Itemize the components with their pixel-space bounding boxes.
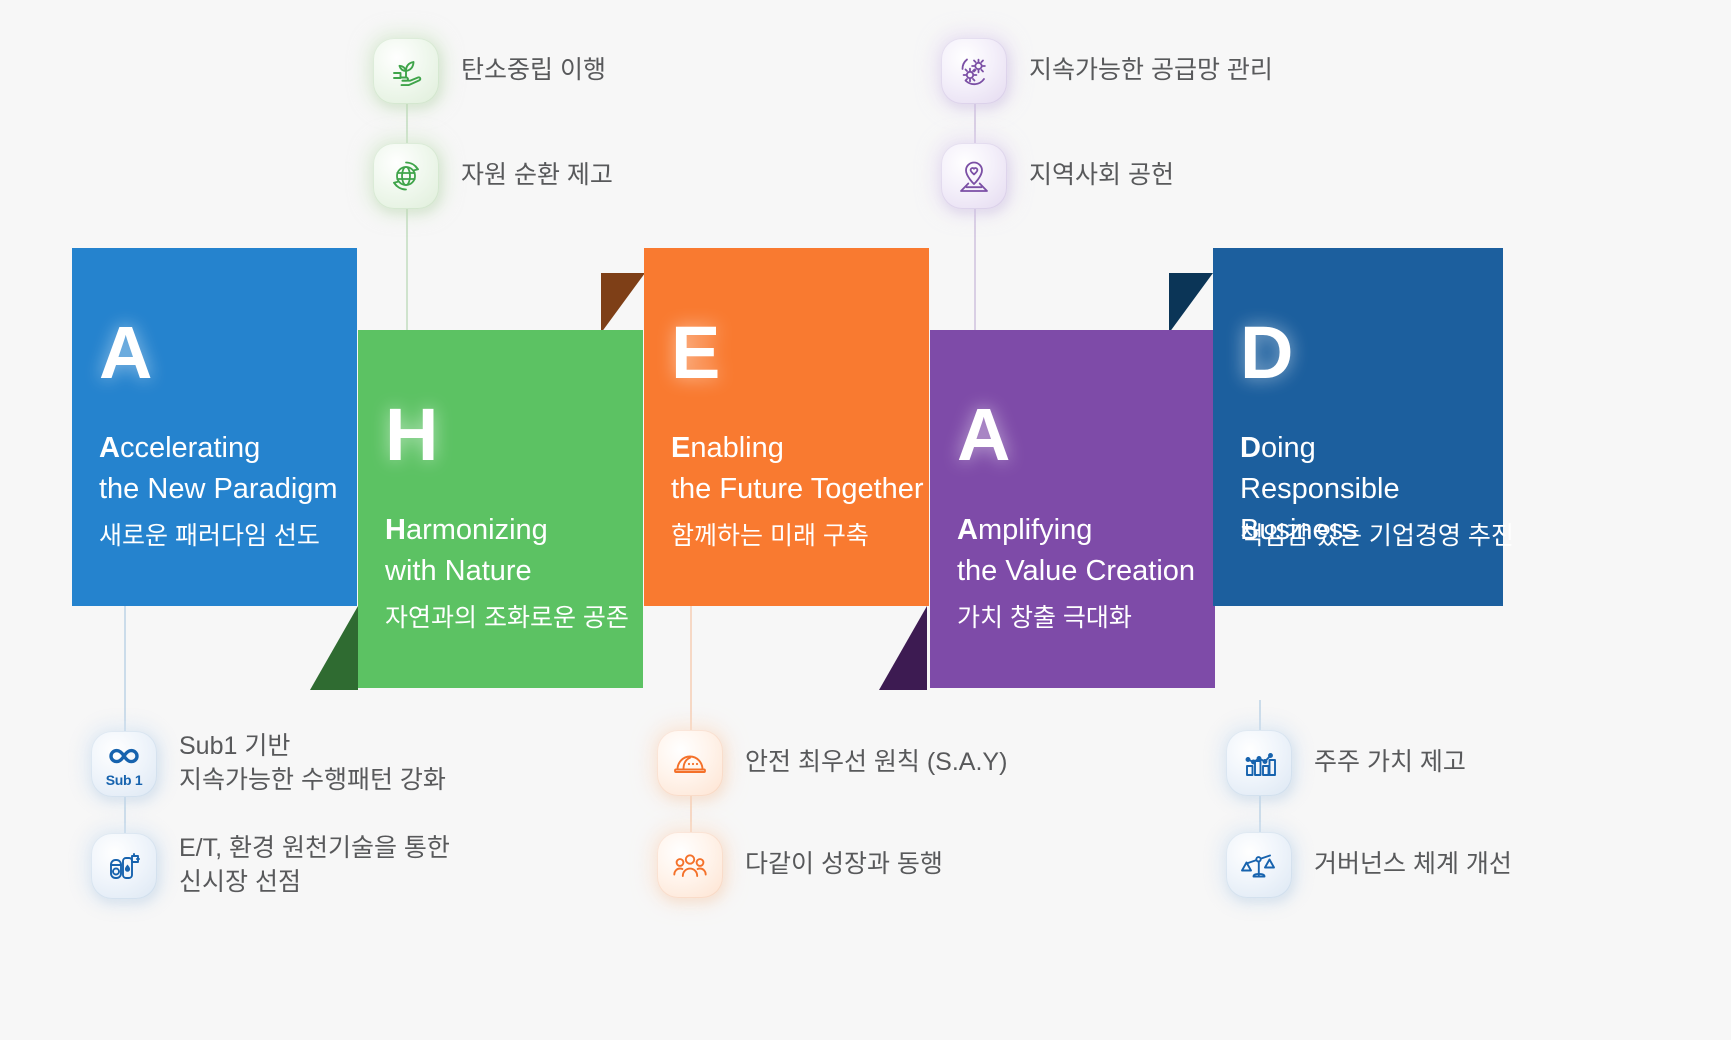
bottom-item-label: 다같이 성장과 동행: [745, 848, 943, 882]
top-item-community[interactable]: 지역사회 공헌: [941, 143, 1174, 209]
safety-helmet-icon: [657, 730, 723, 796]
panel-english-a2: Amplifyingthe Value Creation: [957, 510, 1195, 592]
panel-letter-a1: A: [99, 316, 151, 390]
bottom-item-label: 주주 가치 제고: [1314, 746, 1466, 780]
top-item-supply-chain[interactable]: 지속가능한 공급망 관리: [941, 38, 1273, 104]
panel-korean-d: 책임감 있는 기업경영 추진: [1240, 520, 1514, 553]
panel-enabling[interactable]: E Enablingthe Future Together 함께하는 미래 구축: [644, 248, 929, 606]
notch-navy-shadow: [1169, 273, 1213, 333]
water-tank-icon: [91, 833, 157, 899]
panel-harmonizing[interactable]: H Harmonizingwith Nature 자연과의 조화로운 공존: [358, 330, 643, 688]
panel-korean-e: 함께하는 미래 구축: [671, 520, 869, 553]
infinity-sub1-icon: Sub 1: [91, 731, 157, 797]
top-item-label: 지속가능한 공급망 관리: [1029, 54, 1273, 88]
bottom-item-label: E/T, 환경 원천기술을 통한 신시장 선점: [179, 832, 450, 899]
panel-amplifying[interactable]: A Amplifyingthe Value Creation 가치 창출 극대화: [930, 330, 1215, 688]
bottom-item-sub1[interactable]: Sub 1 Sub1 기반 지속가능한 수행패턴 강화: [91, 730, 446, 797]
bottom-item-label: Sub1 기반 지속가능한 수행패턴 강화: [179, 730, 446, 797]
bottom-item-growth[interactable]: 다같이 성장과 동행: [657, 832, 943, 898]
panel-accelerating[interactable]: A Acceleratingthe New Paradigm 새로운 패러다임 …: [72, 248, 357, 606]
panel-english-e: Enablingthe Future Together: [671, 428, 924, 510]
plant-in-hand-icon: [373, 38, 439, 104]
panel-doing[interactable]: D DoingResponsible Business 책임감 있는 기업경영 …: [1213, 248, 1503, 606]
notch-orange-shadow: [601, 273, 645, 333]
balance-scale-icon: [1226, 832, 1292, 898]
bottom-item-label: 거버넌스 체계 개선: [1314, 848, 1512, 882]
panel-letter-h: H: [385, 398, 437, 472]
top-item-carbon-neutral[interactable]: 탄소중립 이행: [373, 38, 606, 104]
connector-line-community: [974, 200, 976, 345]
bottom-item-shareholder[interactable]: 주주 가치 제고: [1226, 730, 1466, 796]
panel-korean-h: 자연과의 조화로운 공존: [385, 602, 629, 635]
top-item-resource-cycle[interactable]: 자원 순환 제고: [373, 143, 613, 209]
top-item-label: 지역사회 공헌: [1029, 159, 1174, 193]
top-item-label: 탄소중립 이행: [461, 54, 606, 88]
panel-letter-a2: A: [957, 398, 1009, 472]
bottom-item-label: 안전 최우선 원칙 (S.A.Y): [745, 746, 1007, 780]
people-group-icon: [657, 832, 723, 898]
panel-english-a1: Acceleratingthe New Paradigm: [99, 428, 338, 510]
bottom-item-safety[interactable]: 안전 최우선 원칙 (S.A.Y): [657, 730, 1007, 796]
bar-chart-icon: [1226, 730, 1292, 796]
panel-letter-d: D: [1240, 316, 1292, 390]
panel-korean-a2: 가치 창출 극대화: [957, 602, 1132, 635]
top-item-label: 자원 순환 제고: [461, 159, 613, 193]
infinity-sub1-icon-text: Sub 1: [91, 772, 157, 788]
bottom-item-governance[interactable]: 거버넌스 체계 개선: [1226, 832, 1512, 898]
recycling-globe-icon: [373, 143, 439, 209]
bottom-item-et[interactable]: E/T, 환경 원천기술을 통한 신시장 선점: [91, 832, 450, 899]
panel-letter-e: E: [671, 316, 719, 390]
panel-english-h: Harmonizingwith Nature: [385, 510, 548, 592]
location-heart-icon: [941, 143, 1007, 209]
infographic-canvas: A Acceleratingthe New Paradigm 새로운 패러다임 …: [0, 0, 1731, 1040]
notch-green-shadow: [310, 606, 358, 690]
panel-korean-a1: 새로운 패러다임 선도: [99, 520, 320, 553]
gears-icon: [941, 38, 1007, 104]
connector-line-resource-cycle: [406, 200, 408, 335]
notch-purple-shadow: [879, 606, 927, 690]
